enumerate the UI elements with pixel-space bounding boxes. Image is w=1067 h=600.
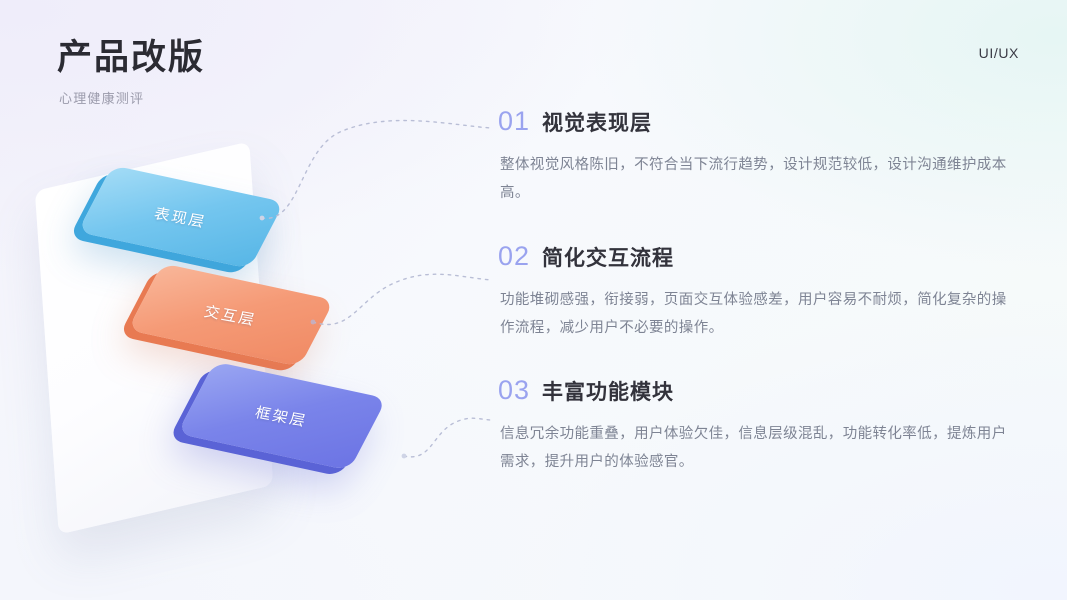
content-block-01: 01 视觉表现层 整体视觉风格陈旧，不符合当下流行趋势，设计规范较低，设计沟通维… xyxy=(498,106,1018,208)
page-subtitle: 心理健康测评 xyxy=(59,88,205,107)
block-body: 功能堆砌感强，衔接弱，页面交互体验感差，用户容易不耐烦，简化复杂的操作流程，减少… xyxy=(500,286,1012,343)
block-title: 简化交互流程 xyxy=(542,242,674,272)
layers-illustration: 表现层 交互层 框架层 xyxy=(0,150,460,580)
block-number: 01 xyxy=(498,106,542,137)
layer-card-label: 表现层 xyxy=(153,202,210,231)
content-block-head: 03 丰富功能模块 xyxy=(498,375,1018,406)
block-title: 丰富功能模块 xyxy=(542,376,674,406)
content-blocks: 01 视觉表现层 整体视觉风格陈旧，不符合当下流行趋势，设计规范较低，设计沟通维… xyxy=(498,106,1018,477)
layer-card-label: 框架层 xyxy=(254,401,311,430)
slide-root: 产品改版 心理健康测评 UI/UX 表现层 交互层 框架层 01 视觉表现层 整… xyxy=(0,0,1067,600)
block-body: 信息冗余功能重叠，用户体验欠佳，信息层级混乱，功能转化率低，提炼用户需求，提升用… xyxy=(500,420,1012,477)
page-title: 产品改版 xyxy=(57,38,205,78)
content-block-03: 03 丰富功能模块 信息冗余功能重叠，用户体验欠佳，信息层级混乱，功能转化率低，… xyxy=(498,375,1018,477)
block-number: 03 xyxy=(498,375,542,406)
content-block-02: 02 简化交互流程 功能堆砌感强，衔接弱，页面交互体验感差，用户容易不耐烦，简化… xyxy=(498,241,1018,343)
block-body: 整体视觉风格陈旧，不符合当下流行趋势，设计规范较低，设计沟通维护成本高。 xyxy=(500,151,1012,208)
corner-tag: UI/UX xyxy=(979,45,1019,61)
layer-card-label: 交互层 xyxy=(203,300,260,329)
content-block-head: 01 视觉表现层 xyxy=(498,106,1018,137)
block-title: 视觉表现层 xyxy=(542,107,652,137)
block-number: 02 xyxy=(498,241,542,272)
slide-header: 产品改版 心理健康测评 xyxy=(57,38,205,107)
content-block-head: 02 简化交互流程 xyxy=(498,241,1018,272)
